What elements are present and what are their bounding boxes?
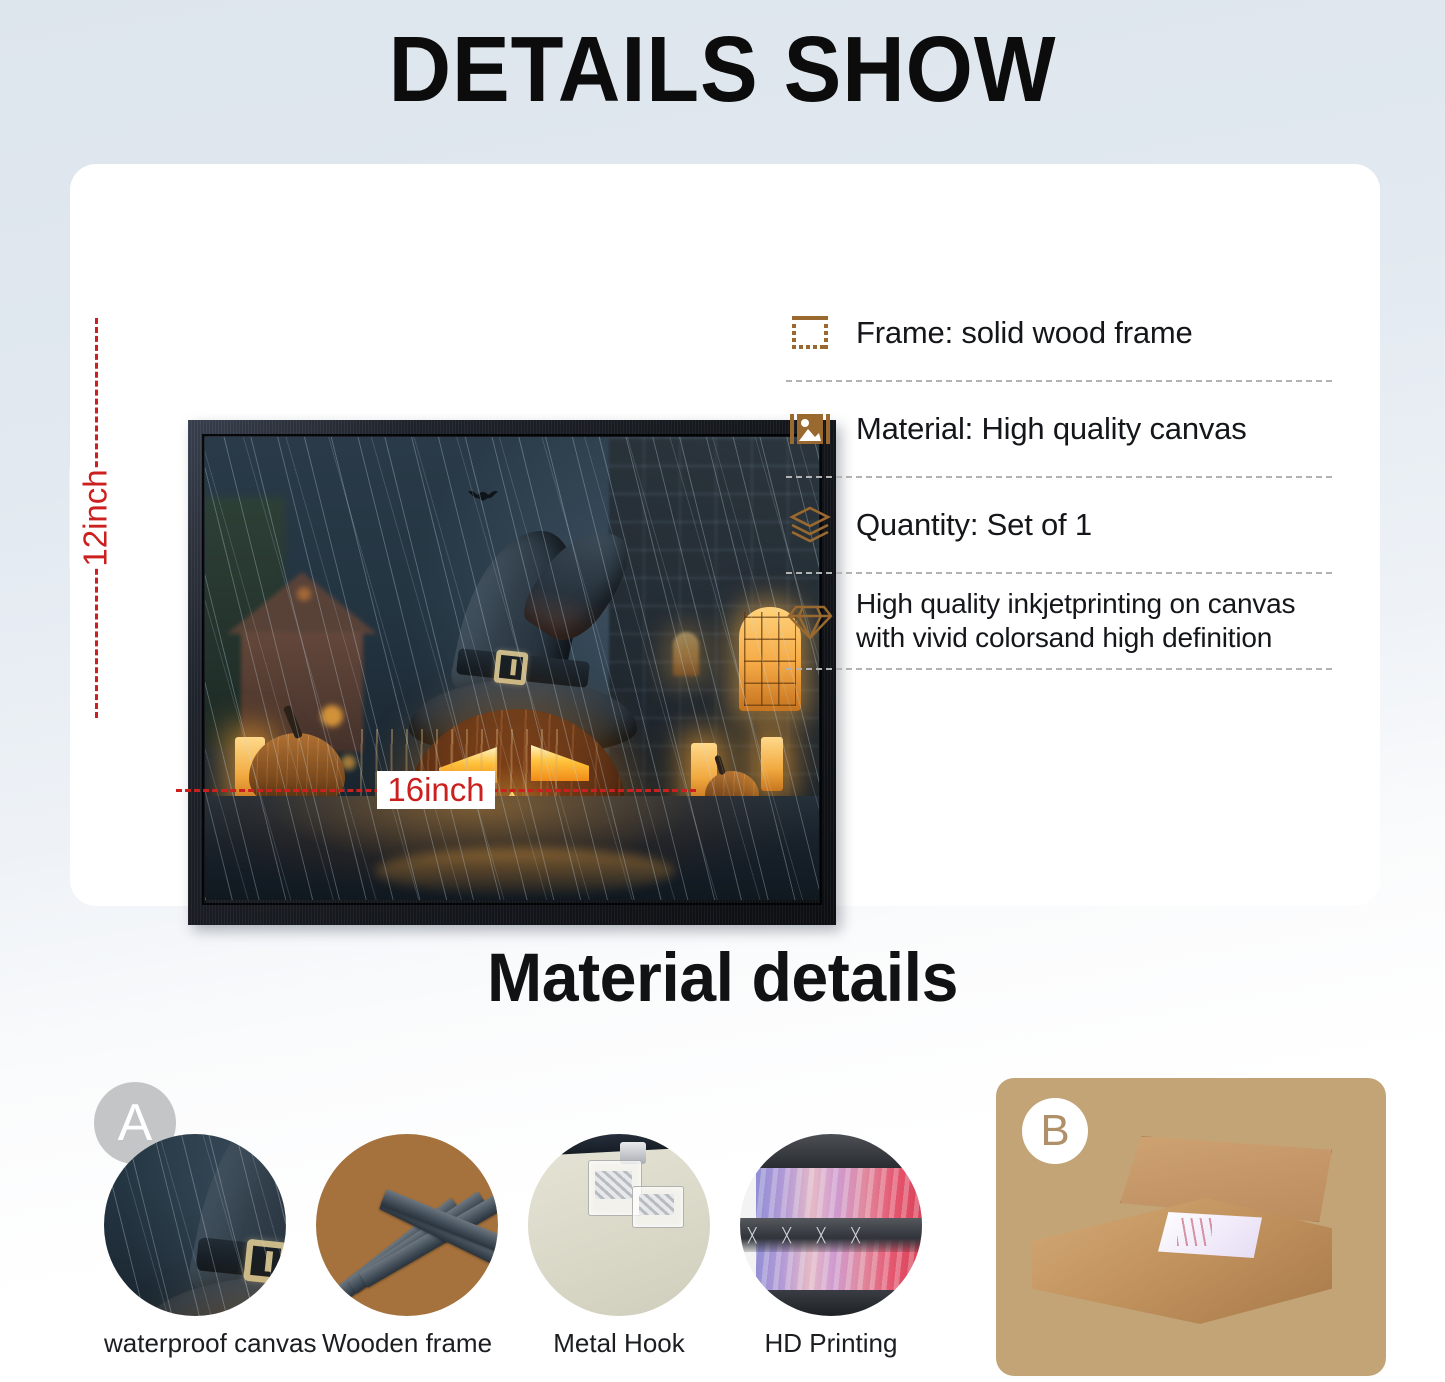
feature-row-quantity: Quantity: Set of 1 bbox=[786, 478, 1332, 574]
metal-hook-icon bbox=[528, 1134, 710, 1316]
height-dimension: 12inch bbox=[76, 318, 116, 718]
framed-artwork bbox=[188, 420, 836, 925]
feature-label-line2: with vivid colorsand high definition bbox=[856, 622, 1272, 653]
thumb-wooden-frame[interactable]: Wooden frame bbox=[316, 1134, 498, 1359]
puddle-reflection bbox=[375, 848, 675, 894]
feature-row-frame: Frame: solid wood frame bbox=[786, 286, 1332, 382]
feature-label-line1: High quality inkjetprinting on canvas bbox=[856, 588, 1295, 619]
feature-label: Quantity: Set of 1 bbox=[856, 506, 1092, 544]
width-dimension: 16inch bbox=[176, 768, 696, 812]
canvas-artwork bbox=[205, 437, 819, 900]
feature-row-material: Material: High quality canvas bbox=[786, 382, 1332, 478]
frame-icon bbox=[786, 312, 834, 354]
bokeh-light bbox=[321, 705, 343, 727]
lit-window-small-icon bbox=[673, 632, 699, 676]
width-dimension-label: 16inch bbox=[377, 771, 494, 809]
feature-label-multiline: High quality inkjetprinting on canvas wi… bbox=[856, 587, 1295, 655]
thumb-waterproof-canvas[interactable]: waterproof canvas bbox=[104, 1134, 286, 1359]
feature-label: Frame: solid wood frame bbox=[856, 314, 1193, 352]
material-details-title: Material details bbox=[29, 938, 1416, 1017]
thumb-metal-hook[interactable]: Metal Hook bbox=[528, 1134, 710, 1359]
page-title: DETAILS SHOW bbox=[51, 16, 1395, 123]
wood-frame bbox=[188, 420, 836, 925]
hardware-bag bbox=[632, 1186, 684, 1228]
height-dimension-label: 12inch bbox=[70, 467, 122, 568]
hd-printer-icon: ╳╳╳╳ bbox=[740, 1134, 922, 1316]
feature-list: Frame: solid wood frame Material: High q… bbox=[786, 286, 1332, 670]
feature-label: Material: High quality canvas bbox=[856, 410, 1247, 448]
canvas-swatch-icon bbox=[104, 1134, 286, 1316]
diamond-icon bbox=[786, 601, 834, 641]
mini-artwork bbox=[104, 1134, 286, 1316]
thumb-caption: waterproof canvas bbox=[104, 1328, 286, 1359]
thumb-caption: HD Printing bbox=[740, 1328, 922, 1359]
thumb-caption: Metal Hook bbox=[528, 1328, 710, 1359]
hat-buckle-icon bbox=[493, 649, 528, 685]
feature-row-quality: High quality inkjetprinting on canvas wi… bbox=[786, 574, 1332, 670]
group-b-badge: B bbox=[1022, 1098, 1088, 1164]
thumb-caption: Wooden frame bbox=[316, 1328, 498, 1359]
layers-icon bbox=[786, 505, 834, 545]
image-icon bbox=[786, 410, 834, 448]
bat-icon bbox=[468, 489, 498, 503]
wooden-frame-icon bbox=[316, 1134, 498, 1316]
shipping-box-icon bbox=[1032, 1136, 1352, 1346]
box-contents bbox=[1158, 1212, 1262, 1258]
product-detail-card: 12inch 16inch Frame: bbox=[70, 164, 1380, 906]
material-thumbnail-row: waterproof canvas Wooden frame Metal Hoo… bbox=[100, 1134, 960, 1379]
bokeh-light bbox=[297, 587, 311, 601]
thumb-hd-printing[interactable]: ╳╳╳╳ HD Printing bbox=[740, 1134, 922, 1359]
candle-icon bbox=[761, 737, 783, 791]
